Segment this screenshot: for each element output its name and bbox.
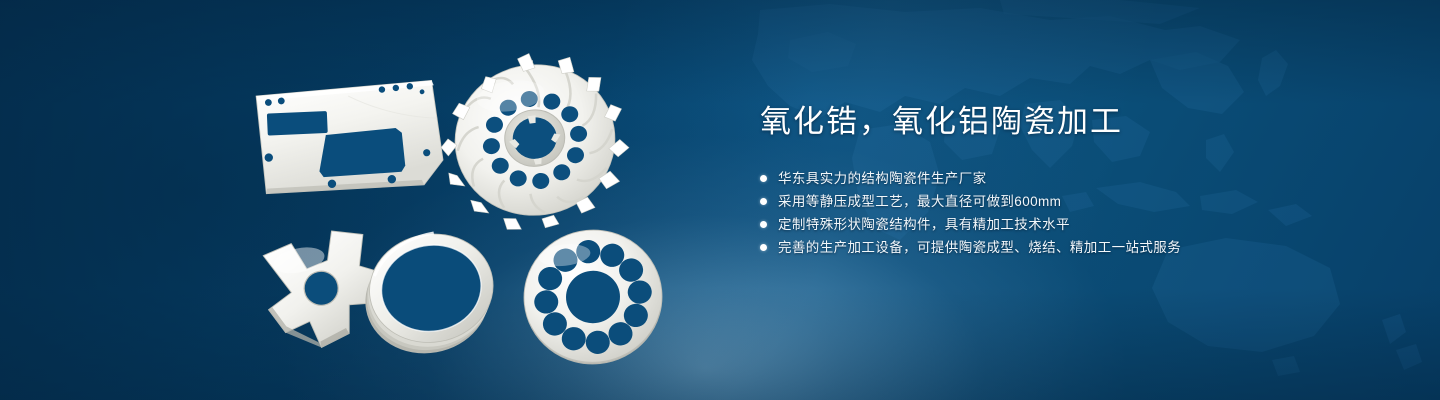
list-item: 华东具实力的结构陶瓷件生产厂家 (760, 171, 1380, 187)
list-item-label: 完善的生产加工设备，可提供陶瓷成型、烧结、精加工一站式服务 (778, 240, 1181, 256)
banner-copy: 氧化锆，氧化铝陶瓷加工 华东具实力的结构陶瓷件生产厂家 采用等静压成型工艺，最大… (760, 104, 1380, 256)
ceramic-ring-stack (348, 222, 518, 362)
feature-list: 华东具实力的结构陶瓷件生产厂家 采用等静压成型工艺，最大直径可做到600mm 定… (760, 171, 1380, 256)
ceramic-processing-banner: 氧化锆，氧化铝陶瓷加工 华东具实力的结构陶瓷件生产厂家 采用等静压成型工艺，最大… (0, 0, 1440, 400)
dot-bullet-icon (760, 244, 767, 251)
list-item-label: 采用等静压成型工艺，最大直径可做到600mm (778, 194, 1061, 210)
list-item-label: 定制特殊形状陶瓷结构件，具有精加工技术水平 (778, 217, 1070, 233)
ceramic-perforated-disc (518, 222, 668, 372)
list-item: 定制特殊形状陶瓷结构件，具有精加工技术水平 (760, 217, 1380, 233)
dot-bullet-icon (760, 175, 767, 182)
dot-bullet-icon (760, 198, 767, 205)
ceramic-impeller (440, 45, 630, 235)
list-item: 采用等静压成型工艺，最大直径可做到600mm (760, 194, 1380, 210)
list-item: 完善的生产加工设备，可提供陶瓷成型、烧结、精加工一站式服务 (760, 240, 1380, 256)
product-photo-cluster (0, 0, 720, 400)
list-item-label: 华东具实力的结构陶瓷件生产厂家 (778, 171, 987, 187)
dot-bullet-icon (760, 221, 767, 228)
page-title: 氧化锆，氧化铝陶瓷加工 (760, 104, 1380, 141)
ceramic-flat-plate (250, 78, 450, 198)
